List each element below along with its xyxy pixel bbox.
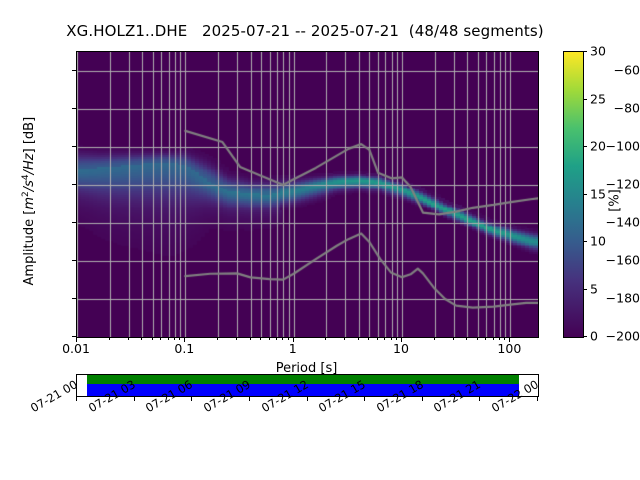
x-tick-mark-minor [128, 337, 129, 340]
x-tick-mark-minor [236, 337, 237, 340]
y-tick-label: −160 [582, 253, 640, 268]
timeline-tick-mark [364, 397, 365, 401]
colorbar-tick-mark [583, 289, 587, 290]
x-tick-mark-minor [276, 337, 277, 340]
y-tick-mark [72, 70, 76, 71]
x-tick-mark-minor [453, 337, 454, 340]
x-tick-mark-minor [179, 337, 180, 340]
ppsd-figure: XG.HOLZ1..DHE 2025-07-21 -- 2025-07-21 (… [0, 0, 640, 480]
x-tick-mark-minor [174, 337, 175, 340]
x-tick-mark-minor [260, 337, 261, 340]
colorbar-tick-mark [583, 146, 587, 147]
x-tick-mark-minor [493, 337, 494, 340]
colorbar-tick-mark [583, 336, 587, 337]
timeline-tick-mark [134, 397, 135, 401]
timeline-tick-mark [479, 397, 480, 401]
noise-model-curves [77, 52, 538, 337]
colorbar-tick-mark [583, 194, 587, 195]
y-tick-mark [72, 260, 76, 261]
colorbar-tick-label: 20 [590, 139, 606, 154]
colorbar-tick-mark [583, 241, 587, 242]
ppsd-plot-area[interactable] [76, 51, 539, 338]
timeline-tick-mark [249, 397, 250, 401]
y-tick-mark [72, 298, 76, 299]
x-tick-mark-minor [434, 337, 435, 340]
x-tick-mark-minor [477, 337, 478, 340]
colorbar-tick-label: 15 [590, 186, 606, 201]
x-tick-mark-minor [499, 337, 500, 340]
x-tick-mark-minor [152, 337, 153, 340]
x-tick-mark-minor [160, 337, 161, 340]
timeline-tick-label: 07-21 00 [28, 377, 80, 415]
y-tick-label: −60 [582, 63, 640, 78]
x-tick-mark-minor [141, 337, 142, 340]
x-tick-mark-minor [358, 337, 359, 340]
x-tick-mark-minor [288, 337, 289, 340]
x-tick-mark-minor [344, 337, 345, 340]
colorbar[interactable] [563, 51, 584, 338]
y-tick-mark [72, 184, 76, 185]
x-tick-label: 0.01 [62, 341, 90, 356]
x-tick-mark-minor [217, 337, 218, 340]
timeline-tick-mark [191, 397, 192, 401]
colorbar-tick-label: 25 [590, 91, 606, 106]
colorbar-tick-mark [583, 99, 587, 100]
x-tick-mark-minor [504, 337, 505, 340]
x-tick-mark-minor [168, 337, 169, 340]
x-tick-mark-minor [384, 337, 385, 340]
x-tick-label: 100 [497, 341, 521, 356]
x-tick-mark-minor [109, 337, 110, 340]
x-tick-label: 10 [393, 341, 409, 356]
colorbar-tick-label: 30 [590, 44, 606, 59]
timeline-tick-mark [76, 397, 77, 401]
x-tick-mark-minor [368, 337, 369, 340]
colorbar-label: [%] [608, 156, 623, 246]
page-title: XG.HOLZ1..DHE 2025-07-21 -- 2025-07-21 (… [0, 22, 610, 40]
timeline-tick-mark [307, 397, 308, 401]
x-tick-mark-minor [325, 337, 326, 340]
timeline-tick-mark [422, 397, 423, 401]
colorbar-tick-label: 5 [590, 281, 598, 296]
y-tick-mark [72, 146, 76, 147]
x-tick-label: 0.1 [174, 341, 194, 356]
colorbar-tick-label: 10 [590, 234, 606, 249]
timeline-tick-mark [537, 397, 538, 401]
x-tick-label: 1 [289, 341, 297, 356]
colorbar-tick-mark [583, 51, 587, 52]
x-tick-mark-minor [391, 337, 392, 340]
y-axis-label: Amplitude [m2/s4/Hz] [dB] [21, 51, 37, 351]
x-tick-mark-minor [485, 337, 486, 340]
x-tick-mark-minor [377, 337, 378, 340]
x-tick-mark-minor [250, 337, 251, 340]
y-tick-mark [72, 108, 76, 109]
y-tick-mark [72, 222, 76, 223]
colorbar-tick-label: 0 [590, 329, 598, 344]
x-tick-mark-minor [269, 337, 270, 340]
x-tick-mark-minor [396, 337, 397, 340]
x-tick-mark-minor [282, 337, 283, 340]
x-tick-mark-minor [466, 337, 467, 340]
